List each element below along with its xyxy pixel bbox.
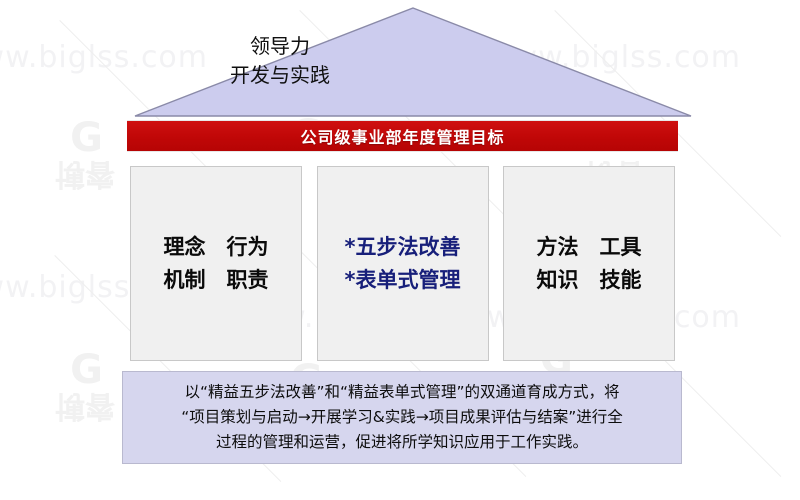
goal-banner-label: 公司级事业部年度管理目标 [300,124,504,148]
watermark-logo-mark: G [55,118,115,158]
pillar-method-label: *五步法改善 *表单式管理 [345,231,461,296]
watermark-logo-cn: 博睿 [55,390,115,420]
pillar-tools: 方法 工具 知识 技能 [503,166,675,361]
foundation-description: 以“精益五步法改善”和“精益表单式管理”的双通道育成方式，将 “项目策划与启动→… [171,380,633,455]
watermark-logo-cn: 博睿 [55,158,115,188]
slide-canvas: www.biglss.com www.biglss.com www.biglss… [0,0,800,500]
goal-banner: 公司级事业部年度管理目标 [127,120,678,152]
watermark-logo-mark: G [55,350,115,390]
watermark-logo: G 博睿 [55,350,115,420]
roof-title-line1: 领导力 [0,32,560,61]
watermark-logo: G 博睿 [55,118,115,188]
pillar-concept: 理念 行为 机制 职责 [130,166,302,361]
roof-title: 领导力 开发与实践 [0,32,560,90]
roof-title-line2: 开发与实践 [0,61,560,90]
pillar-concept-label: 理念 行为 机制 职责 [164,231,269,296]
pillar-method: *五步法改善 *表单式管理 [317,166,489,361]
pillar-tools-label: 方法 工具 知识 技能 [537,231,642,296]
foundation-box: 以“精益五步法改善”和“精益表单式管理”的双通道育成方式，将 “项目策划与启动→… [122,371,682,464]
pillars-row: 理念 行为 机制 职责 *五步法改善 *表单式管理 方法 工具 知识 技能 [130,166,675,361]
